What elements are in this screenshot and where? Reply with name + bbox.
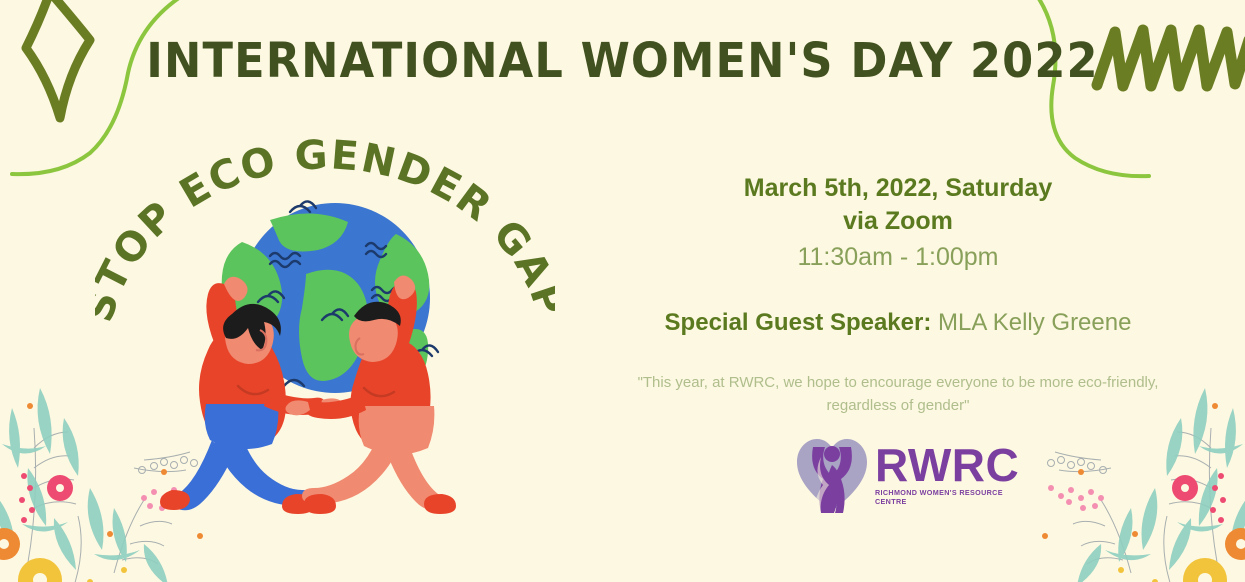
poster-canvas: International Women's Day 2022 STOP ECO …	[0, 0, 1245, 582]
event-time: 11:30am - 1:00pm	[618, 238, 1178, 276]
globe-and-figures	[150, 190, 520, 530]
quote-line-1: "This year, at RWRC, we hope to encourag…	[618, 371, 1178, 394]
rwrc-heart-figure-icon	[795, 435, 869, 513]
rwrc-logo: RWRC RICHMOND WOMEN'S RESOURCE CENTRE	[795, 434, 995, 514]
logo-acronym: RWRC	[875, 443, 1019, 487]
quote-line-2: regardless of gender"	[618, 394, 1178, 417]
page-title: International Women's Day 2022	[44, 33, 1202, 89]
event-info: March 5th, 2022, Saturday via Zoom 11:30…	[618, 172, 1178, 417]
logo-text: RWRC RICHMOND WOMEN'S RESOURCE CENTRE	[875, 443, 1019, 506]
speaker-name: MLA Kelly Greene	[938, 309, 1131, 336]
event-platform: via Zoom	[618, 205, 1178, 238]
speaker-line: Special Guest Speaker: MLA Kelly Greene	[618, 308, 1178, 338]
event-date: March 5th, 2022, Saturday	[618, 172, 1178, 205]
illustration-group: STOP ECO GENDER GAP	[95, 135, 555, 525]
quote-block: "This year, at RWRC, we hope to encourag…	[618, 371, 1178, 417]
speaker-label: Special Guest Speaker:	[665, 309, 932, 336]
logo-tagline: RICHMOND WOMEN'S RESOURCE CENTRE	[875, 488, 1019, 506]
decor-top-right	[1019, 0, 1245, 200]
